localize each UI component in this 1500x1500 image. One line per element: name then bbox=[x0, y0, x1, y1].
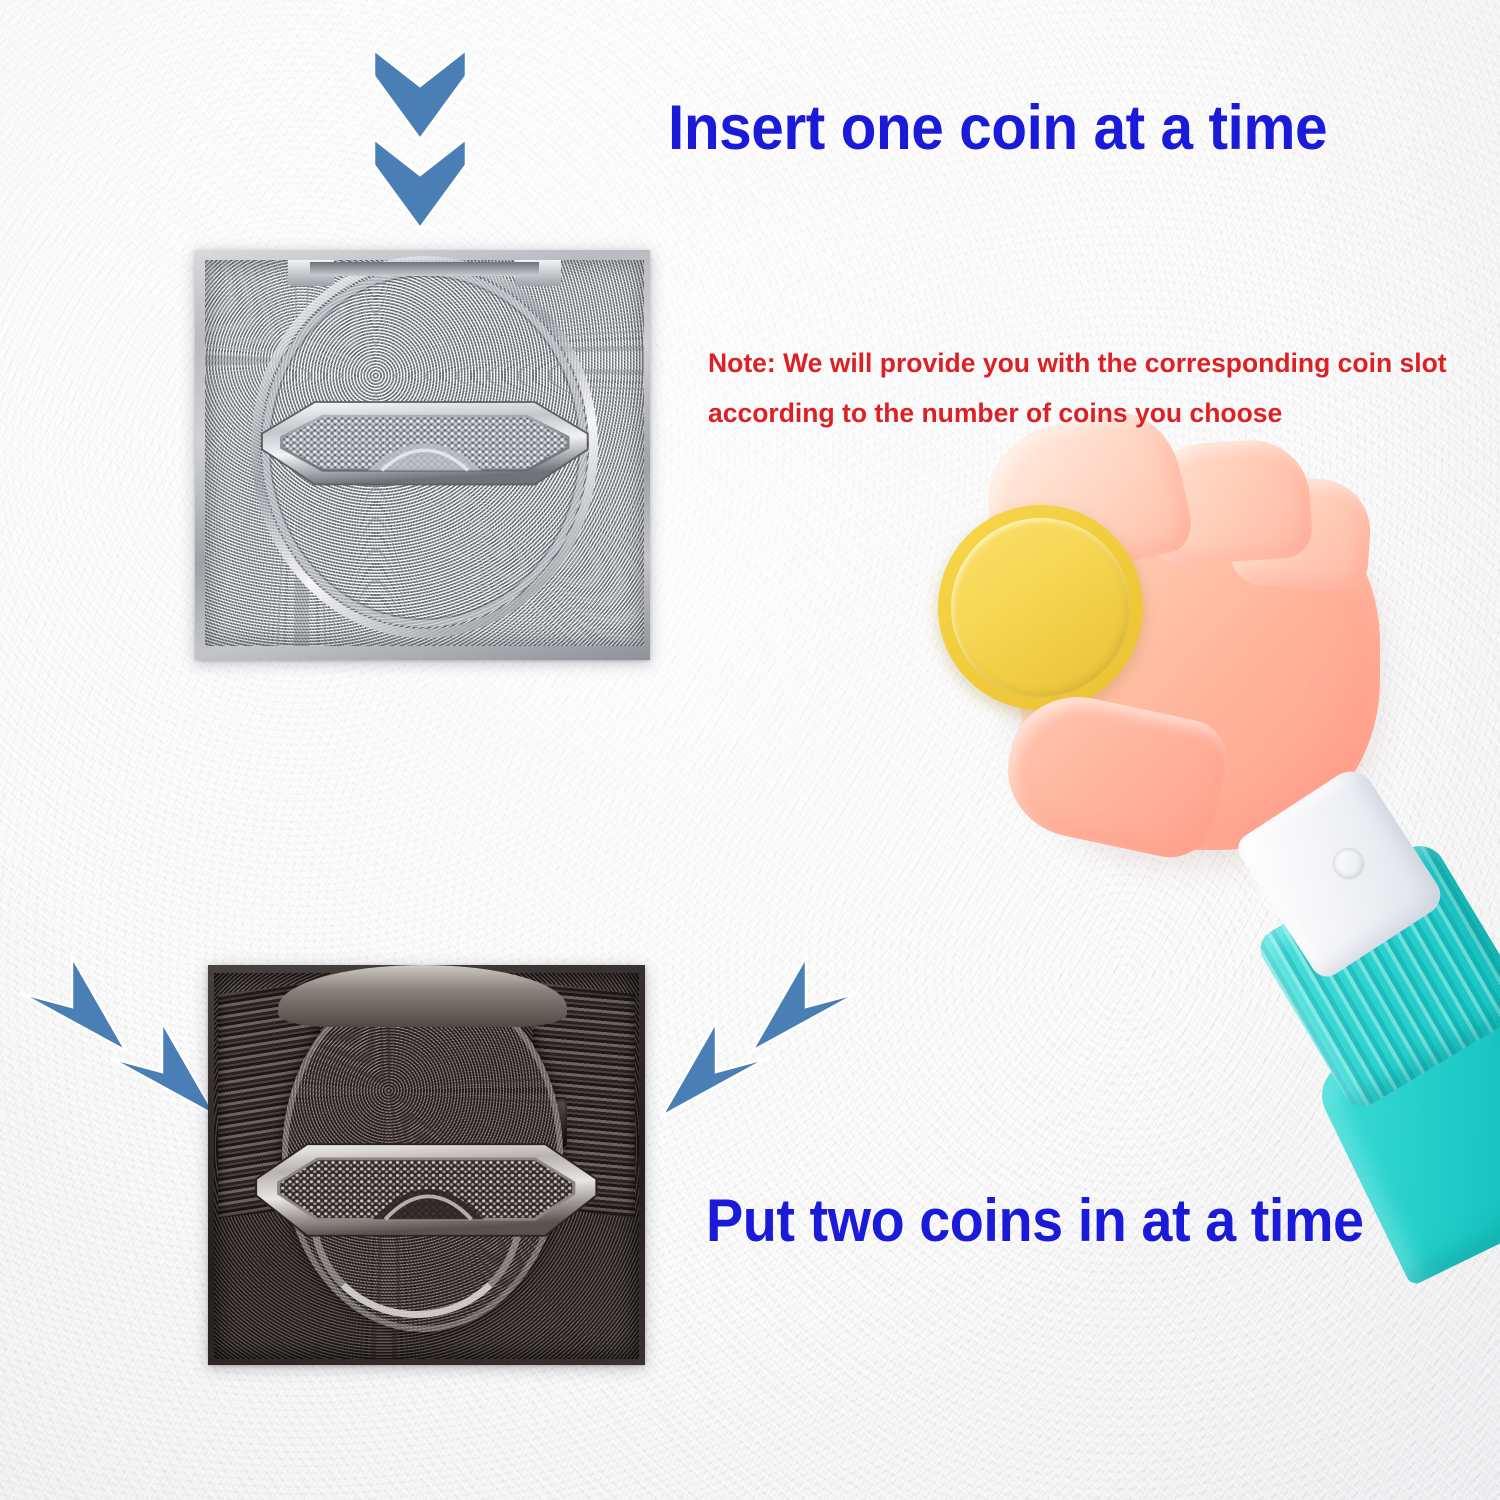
photo-double-coin-slot bbox=[208, 965, 645, 1365]
arrow-down-left-icon bbox=[748, 955, 868, 1055]
photo-single-coin-slot bbox=[195, 250, 650, 660]
bronze-plate bbox=[208, 965, 645, 1365]
cuff-button bbox=[1327, 842, 1368, 883]
coin-face bbox=[951, 518, 1130, 697]
chrome-plate bbox=[195, 250, 650, 660]
coin-token bbox=[938, 505, 1143, 710]
heading-insert-one-coin: Insert one coin at a time bbox=[668, 92, 1327, 164]
arrow-down-icon bbox=[370, 135, 470, 230]
arrow-down-icon bbox=[370, 46, 470, 141]
arrow-down-right-icon bbox=[100, 1020, 220, 1120]
coin-slot-handle-single bbox=[258, 395, 592, 492]
note-line-1: Note: We will provide you with the corre… bbox=[708, 338, 1498, 388]
chrome-top-bar bbox=[310, 262, 538, 276]
bronze-knob-crown bbox=[278, 965, 567, 1027]
note-line-2: according to the number of coins you cho… bbox=[708, 388, 1498, 438]
heading-put-two-coins: Put two coins in at a time bbox=[706, 1186, 1364, 1255]
coin-slot-handle-double bbox=[252, 1135, 601, 1243]
chrome-bezel bbox=[205, 260, 644, 646]
hand-holding-coin bbox=[930, 420, 1500, 1100]
note-block: Note: We will provide you with the corre… bbox=[708, 338, 1498, 438]
bronze-bezel bbox=[214, 973, 639, 1359]
product-infographic: Insert one coin at a time Note: We will … bbox=[0, 0, 1500, 1500]
